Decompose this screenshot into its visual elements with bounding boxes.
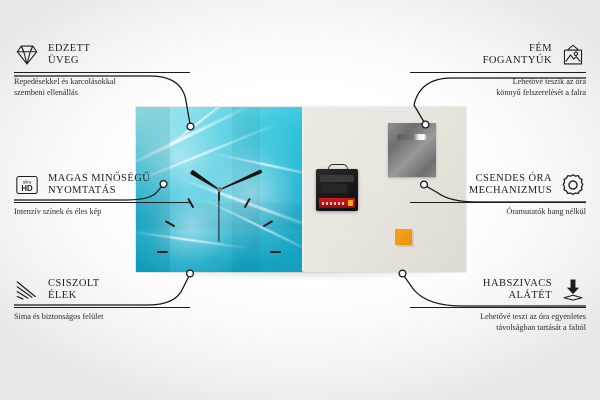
feature-desc-2: szembeni ellenállás — [14, 88, 190, 99]
feature-title: FÉM — [483, 43, 552, 56]
foam-pad-icon — [560, 277, 586, 303]
divider — [14, 307, 190, 308]
divider — [410, 307, 586, 308]
divider — [14, 72, 190, 73]
gear-icon — [560, 172, 586, 198]
feature-silent-mechanism: CSENDES ÓRA MECHANIZMUS Óramutatók hang … — [410, 172, 586, 218]
feature-desc: Óramutatók hang nélkül — [410, 207, 586, 218]
feature-title: CSISZOLT — [48, 278, 100, 291]
feature-desc: Intenzív színek és éles kép — [14, 207, 190, 218]
svg-text:HD: HD — [21, 184, 33, 193]
clock-mechanism-box — [316, 169, 358, 211]
feature-metal-handles: FÉM FOGANTYÚK Lehetővé teszik az óra kön… — [410, 42, 586, 98]
polished-edges-icon — [14, 277, 40, 303]
divider — [410, 72, 586, 73]
feature-foam-pad: HABSZIVACS ALÁTÉT Lehetővé teszi az óra … — [410, 277, 586, 333]
mechanism-hook — [328, 164, 348, 172]
feature-title-2: NYOMTATÁS — [48, 185, 150, 198]
feature-desc: Sima és biztonságos felület — [14, 312, 190, 323]
divider — [410, 202, 586, 203]
feature-high-quality-print: ultra HD MAGAS MINŐSÉGŰ NYOMTATÁS Intenz… — [14, 172, 190, 218]
diamond-icon — [14, 42, 40, 68]
ultra-hd-icon: ultra HD — [14, 172, 40, 198]
feature-tempered-glass: EDZETT ÜVEG Repedésekkel és karcolásokka… — [14, 42, 190, 98]
feature-desc: Lehetővé teszik az óra — [410, 77, 586, 88]
feature-desc-2: távolságban tartását a faltól — [410, 323, 586, 334]
clock-hand-cap — [217, 187, 222, 192]
feature-title-2: ÜVEG — [48, 55, 90, 68]
feature-desc-2: könnyű felszerelését a falra — [410, 88, 586, 99]
hanger-slot — [397, 134, 427, 140]
infographic-canvas: EDZETT ÜVEG Repedésekkel és karcolásokka… — [0, 0, 600, 400]
feature-title: MAGAS MINŐSÉGŰ — [48, 173, 150, 186]
feature-title-2: ÉLEK — [48, 290, 100, 303]
feature-title: HABSZIVACS — [483, 278, 552, 291]
feature-title: EDZETT — [48, 43, 90, 56]
clock-minute-hand — [218, 169, 263, 192]
battery-label — [322, 202, 346, 205]
clock-hour-hand — [189, 169, 220, 192]
feature-title: CSENDES ÓRA — [469, 173, 552, 186]
feature-desc: Repedésekkel és karcolásokkal — [14, 77, 190, 88]
feature-title-2: ALÁTÉT — [483, 290, 552, 303]
feature-title-2: FOGANTYÚK — [483, 55, 552, 68]
feature-polished-edges: CSISZOLT ÉLEK Sima és biztonságos felüle… — [14, 277, 190, 323]
feature-desc: Lehetővé teszi az óra egyenletes — [410, 312, 586, 323]
battery-tip — [348, 200, 353, 206]
divider — [14, 202, 190, 203]
feature-title-2: MECHANIZMUS — [469, 185, 552, 198]
metal-hanger-plate — [388, 123, 436, 177]
battery — [319, 198, 355, 208]
picture-hanger-icon — [560, 42, 586, 68]
mechanism-body — [321, 184, 347, 193]
orange-foam-pad — [395, 229, 412, 245]
mechanism-slot — [320, 175, 354, 182]
